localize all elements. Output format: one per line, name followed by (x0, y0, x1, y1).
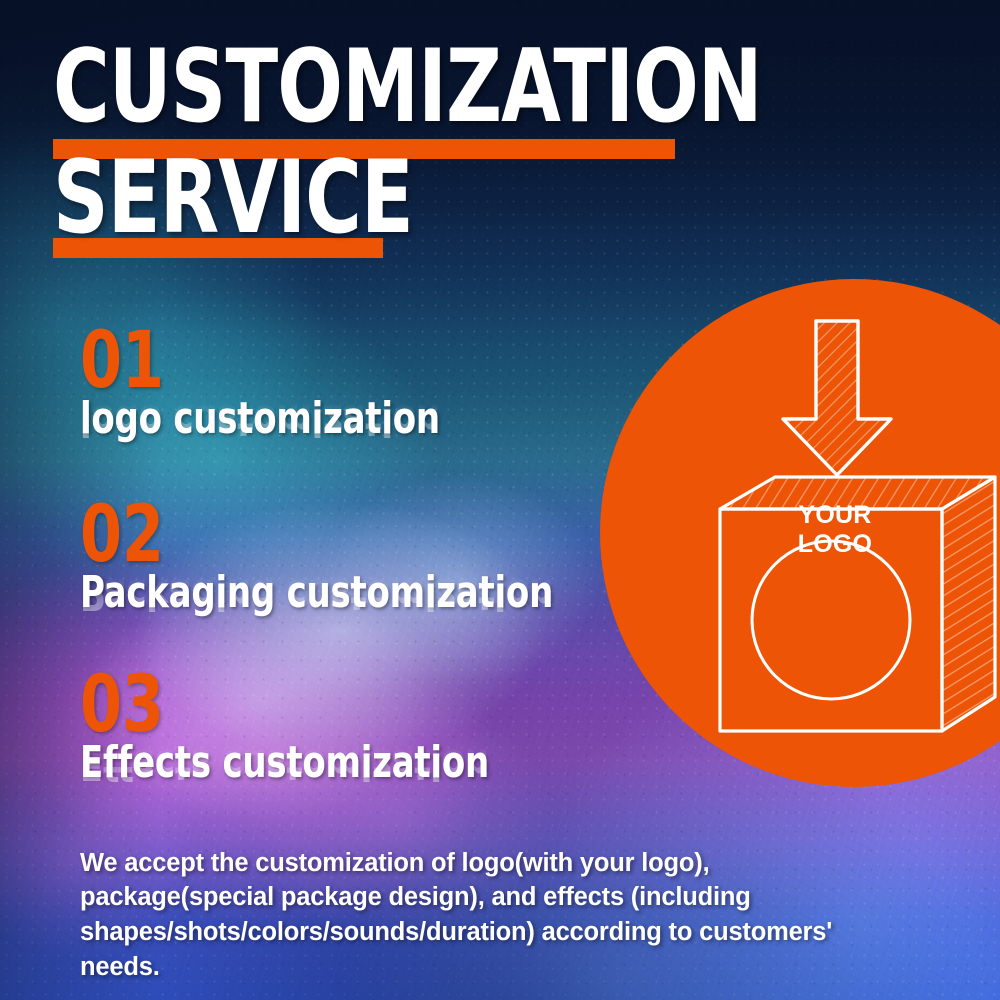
service-item-number: 02 (80, 502, 553, 569)
headline-line-2: SERVICE (53, 155, 699, 240)
service-item-label-wrap: logo customization logo customization (80, 397, 498, 441)
service-item-label: Effects customization (80, 741, 489, 785)
down-arrow-icon (783, 321, 891, 475)
service-item-label: Packaging customization (80, 571, 553, 615)
service-item-01: 01 logo customization logo customization (80, 328, 498, 441)
service-item-02: 02 Packaging customization Packaging cus… (80, 502, 630, 615)
service-item-label-wrap: Effects customization Effects customizat… (80, 741, 556, 785)
service-item-03: 03 Effects customization Effects customi… (80, 672, 556, 785)
service-item-label: logo customization (80, 397, 440, 441)
service-item-label-wrap: Packaging customization Packaging custom… (80, 571, 630, 615)
headline-line-1: CUSTOMIZATION (53, 44, 699, 129)
your-logo-text: YOUR LOGO (773, 501, 897, 558)
your-logo-line-2: LOGO (798, 530, 872, 558)
headline-block: CUSTOMIZATION SERVICE (53, 44, 813, 240)
service-item-number: 01 (80, 328, 440, 395)
service-item-number: 03 (80, 672, 489, 739)
orange-circle-badge: YOUR LOGO (600, 279, 1000, 787)
your-logo-line-1: YOUR (798, 501, 871, 529)
logo-placeholder-circle-icon (752, 541, 910, 699)
promotional-poster: CUSTOMIZATION SERVICE 01 logo customizat… (0, 0, 1000, 1000)
body-paragraph: We accept the customization of logo(with… (80, 846, 850, 985)
